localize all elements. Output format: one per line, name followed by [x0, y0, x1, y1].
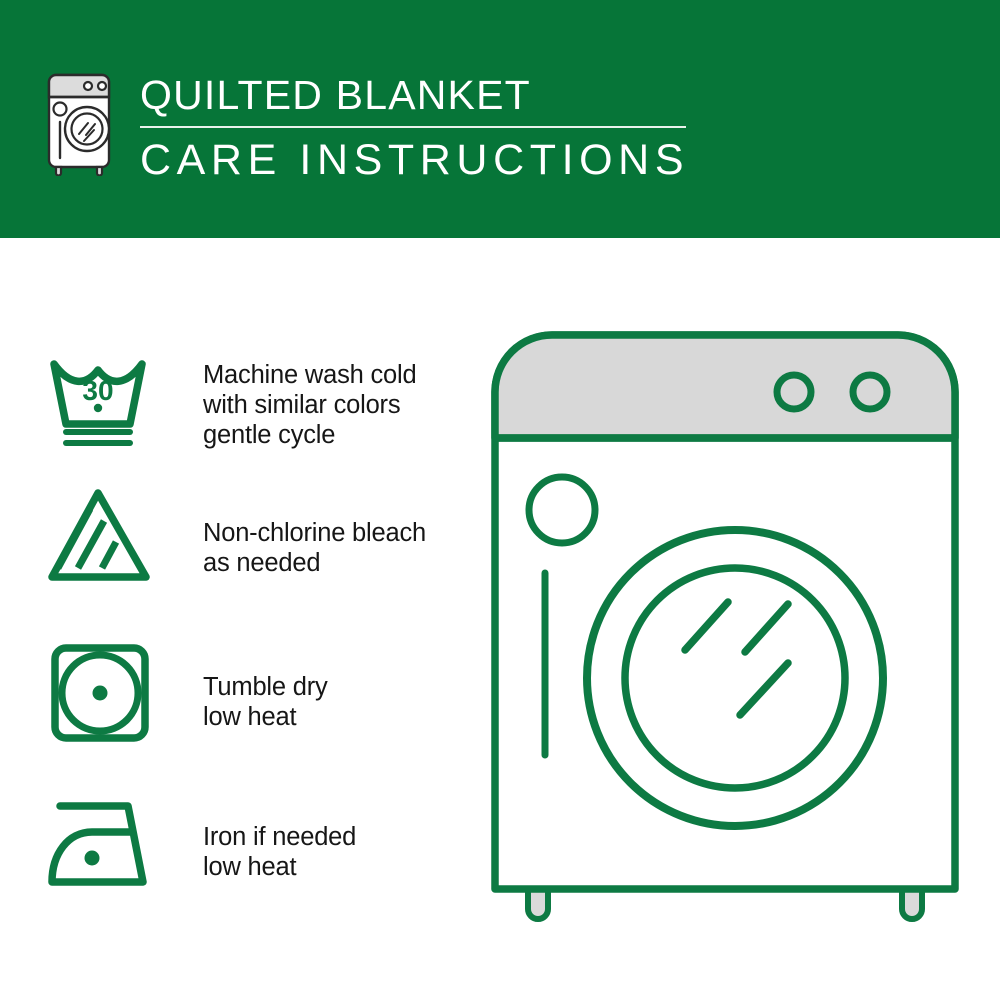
care-instructions-infographic: QUILTED BLANKET CARE INSTRUCTIONS 30 — [0, 0, 1000, 1000]
iron-low-heat-icon — [46, 794, 166, 899]
tumble-dry-row: Tumble dry low heat — [0, 643, 480, 748]
title-divider — [140, 126, 686, 128]
machine-dial — [529, 477, 595, 543]
page-title: QUILTED BLANKET — [140, 70, 740, 120]
care-instruction-label: Tumble dry low heat — [203, 672, 328, 732]
care-instruction-item: 30 Machine wash cold with similar colors… — [0, 350, 480, 455]
front-load-washing-machine-illustration — [490, 330, 970, 930]
header-banner: QUILTED BLANKET CARE INSTRUCTIONS — [0, 0, 1000, 238]
tumble-dry-low-heat-icon — [46, 643, 166, 748]
wash-temp-value: 30 — [82, 375, 113, 406]
wash-tub-30-gentle-icon: 30 — [46, 350, 166, 455]
control-knob-right — [853, 375, 887, 409]
header-title-group: QUILTED BLANKET CARE INSTRUCTIONS — [140, 70, 740, 185]
care-instructions-list: 30 Machine wash cold with similar colors… — [0, 238, 500, 1000]
control-knob-left — [777, 375, 811, 409]
page-subtitle: CARE INSTRUCTIONS — [140, 135, 740, 185]
care-instruction-item: Non-chlorine bleach as needed — [0, 485, 480, 590]
bleach-triangle-non-chlorine-icon — [46, 485, 166, 590]
care-instruction-label: Iron if needed low heat — [203, 822, 356, 882]
drum-inner-ring — [625, 568, 845, 788]
care-instruction-label: Machine wash cold with similar colors ge… — [203, 360, 416, 450]
care-instruction-label: Non-chlorine bleach as needed — [203, 518, 426, 578]
washing-machine-icon — [44, 72, 120, 176]
iron-row: Iron if needed low heat — [0, 794, 480, 899]
